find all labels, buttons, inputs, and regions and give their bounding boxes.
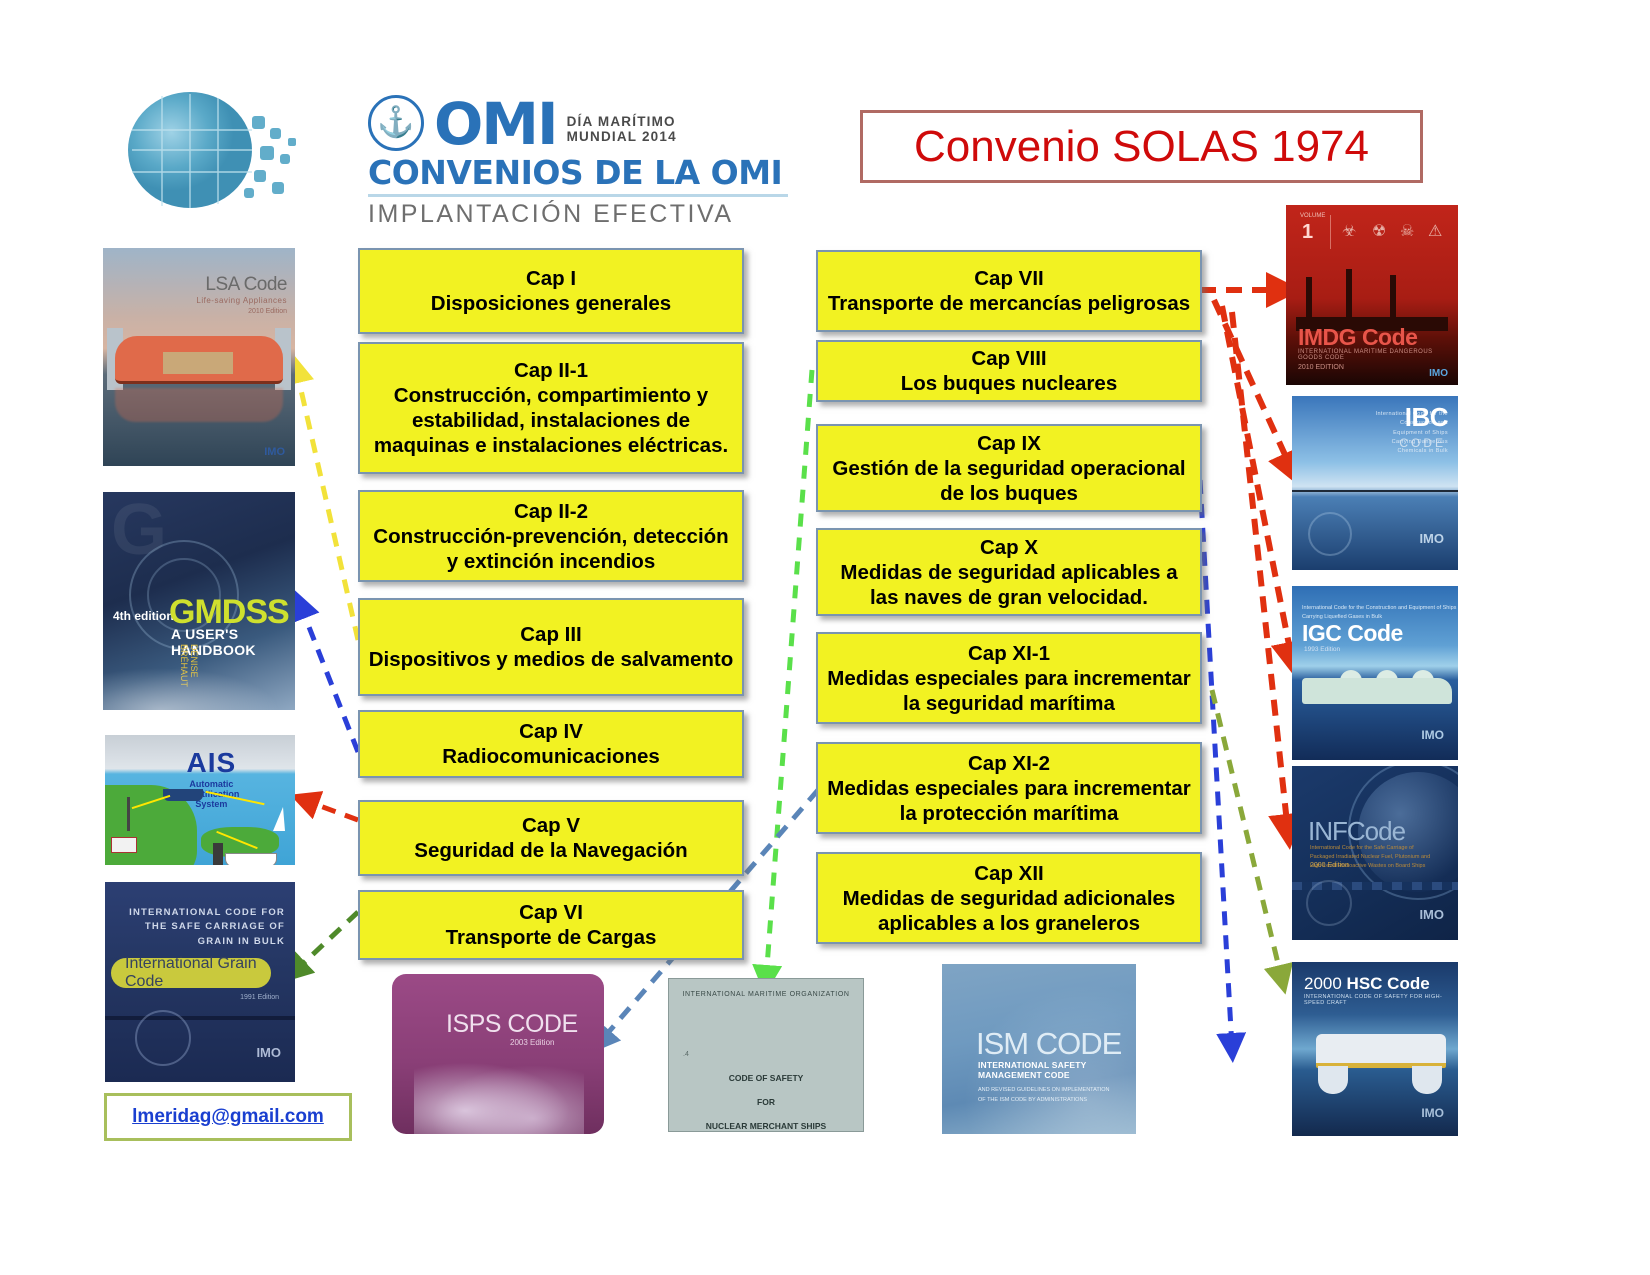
high-speed-craft-illustration [1316, 1034, 1446, 1068]
chapter-box-cap-viii[interactable]: Cap VIII Los buques nucleares [816, 340, 1202, 402]
omi-implementation-line: IMPLANTACIÓN EFECTIVA [368, 200, 788, 229]
inf-title-light: Code [1347, 816, 1405, 846]
nuclear-organization: INTERNATIONAL MARITIME ORGANIZATION [669, 991, 863, 998]
chapter-box-cap-vi[interactable]: Cap VI Transporte de Cargas [358, 890, 744, 960]
isps-edition: 2003 Edition [510, 1038, 554, 1047]
un-wreath-icon: ⚓ [368, 95, 424, 151]
ibc-title: IBC [1405, 402, 1448, 433]
lsa-publisher: IMO [264, 446, 285, 458]
chapter-box-cap-x[interactable]: Cap X Medidas de seguridad aplicables a … [816, 528, 1202, 616]
arrow-cap10-to-hsc [1212, 690, 1282, 980]
arrow-cap7-to-ibc [1214, 300, 1292, 470]
book-cover-inf-code: INFCode International Code for the Safe … [1292, 766, 1458, 940]
chapter-desc: Los buques nucleares [901, 371, 1117, 396]
hsc-subtitle: INTERNATIONAL CODE OF SAFETY FOR HIGH-SP… [1304, 994, 1444, 1006]
omi-conventions-line: CONVENIOS DE LA OMI [368, 153, 788, 197]
email-box: lmeridag@gmail.com [104, 1093, 352, 1141]
book-cover-isps-code: ISPS CODE 2003 Edition [392, 974, 604, 1134]
nuclear-line2: FOR [669, 1097, 863, 1107]
book-cover-gmdss: G 4th edition GMDSS A USER'S HANDBOOK DE… [103, 492, 295, 710]
igc-edition: 1993 Edition [1304, 646, 1340, 653]
grain-edition: 1991 Edition [240, 994, 279, 1001]
chapter-box-cap-ii-2[interactable]: Cap II-2 Construcción-prevención, detecc… [358, 490, 744, 582]
gmdss-edition: 4th edition [113, 609, 174, 623]
book-cover-hsc-code: 2000 HSC Code INTERNATIONAL CODE OF SAFE… [1292, 962, 1458, 1136]
chapter-desc: Medidas de seguridad adicionales aplicab… [826, 886, 1192, 936]
imdg-subtitle: INTERNATIONAL MARITIME DANGEROUS GOODS C… [1298, 349, 1458, 361]
imo-globe-puzzle-logo [112, 88, 322, 213]
chapter-box-cap-ix[interactable]: Cap IX Gestión de la seguridad operacion… [816, 424, 1202, 512]
chapter-cap-label: Cap V [522, 813, 580, 838]
book-cover-ibc-code: International Code for the Construction … [1292, 396, 1458, 570]
toxic-hazard-icon: ☠ [1400, 221, 1414, 241]
ism-title-light: CODE [1028, 1026, 1121, 1061]
arrow-cap5-to-ais [304, 800, 358, 820]
nuclear-line1: CODE OF SAFETY [669, 1073, 863, 1083]
chapter-cap-label: Cap IX [977, 431, 1041, 456]
lsa-title-bold: LSA [205, 274, 238, 295]
omi-day-line2: MUNDIAL 2014 [567, 129, 677, 145]
chapter-box-cap-xi-1[interactable]: Cap XI-1 Medidas especiales para increme… [816, 632, 1202, 724]
book-cover-grain-code: INTERNATIONAL CODE FOR THE SAFE CARRIAGE… [105, 882, 295, 1082]
omi-acronym: OMI [434, 98, 557, 151]
nuclear-line3: NUCLEAR MERCHANT SHIPS [669, 1121, 863, 1131]
page-title-box: Convenio SOLAS 1974 [860, 110, 1423, 183]
isps-title-bold: ISPS [446, 1010, 501, 1038]
ibc-publisher: IMO [1419, 531, 1444, 546]
chapter-desc: Construcción, compartimiento y estabilid… [368, 383, 734, 458]
book-cover-lsa-code: LSA Code Life-saving Appliances 2010 Edi… [103, 248, 295, 466]
chapter-cap-label: Cap VIII [971, 346, 1046, 371]
ism-subtitle: INTERNATIONAL SAFETY MANAGEMENT CODE [978, 1060, 1136, 1080]
imdg-title: IMDG Code [1298, 324, 1417, 351]
book-cover-imdg-code: VOLUME 1 ☣ ☢ ☠ ⚠ IMDG Code INTERNATIONAL… [1286, 205, 1458, 385]
grain-publisher: IMO [256, 1045, 281, 1060]
chapter-desc: Transporte de Cargas [446, 925, 657, 950]
page-title: Convenio SOLAS 1974 [914, 122, 1369, 172]
chapter-cap-label: Cap IV [519, 719, 583, 744]
hsc-publisher: IMO [1421, 1106, 1444, 1120]
book-cover-nuclear-merchant-ships: INTERNATIONAL MARITIME ORGANIZATION .4 C… [668, 978, 864, 1132]
hsc-title: HSC Code [1347, 974, 1430, 993]
lng-tanker-illustration [1302, 678, 1452, 704]
ibc-title2: CODE [1399, 436, 1446, 450]
chapter-cap-label: Cap XI-2 [968, 751, 1050, 776]
inf-title-bold: INF [1308, 816, 1347, 846]
imdg-edition: 2010 EDITION [1298, 364, 1344, 371]
chapter-desc: Medidas especiales para incrementar la p… [826, 776, 1192, 826]
grain-header: INTERNATIONAL CODE FOR THE SAFE CARRIAGE… [115, 906, 285, 949]
chapter-desc: Transporte de mercancías peligrosas [828, 291, 1190, 316]
lsa-title-light: Code [239, 274, 287, 295]
email-link[interactable]: lmeridag@gmail.com [132, 1106, 324, 1128]
chapter-desc: Medidas de seguridad aplicables a las na… [826, 560, 1192, 610]
chapter-desc: Medidas especiales para incrementar la s… [826, 666, 1192, 716]
arrow-cap4-to-gmdss [300, 604, 358, 752]
chapter-box-cap-vii[interactable]: Cap VII Transporte de mercancías peligro… [816, 250, 1202, 332]
arrow-cap7-to-inf [1232, 312, 1288, 832]
arrow-cap9-to-ism [1200, 480, 1232, 1048]
omi-logo: ⚓ OMI DÍA MARÍTIMO MUNDIAL 2014 CONVENIO… [368, 95, 788, 205]
chapter-box-cap-v[interactable]: Cap V Seguridad de la Navegación [358, 800, 744, 876]
chapter-box-cap-i[interactable]: Cap I Disposiciones generales [358, 248, 744, 334]
arrow-cap8-to-nuclear [766, 370, 812, 980]
chapter-box-cap-ii-1[interactable]: Cap II-1 Construcción, compartimiento y … [358, 342, 744, 474]
arrow-cap7-to-igc [1222, 306, 1292, 660]
biohazard-icon: ⚠ [1428, 221, 1442, 241]
chapter-box-cap-xi-2[interactable]: Cap XI-2 Medidas especiales para increme… [816, 742, 1202, 834]
igc-publisher: IMO [1421, 728, 1444, 742]
ism-subtitle2: AND REVISED GUIDELINES ON IMPLEMENTATION… [978, 1086, 1118, 1106]
chapter-cap-label: Cap X [980, 535, 1038, 560]
lsa-edition: 2010 Edition [196, 308, 287, 315]
slide-canvas: ⚓ OMI DÍA MARÍTIMO MUNDIAL 2014 CONVENIO… [0, 0, 1650, 1275]
chapter-cap-label: Cap III [520, 622, 582, 647]
lsa-subtitle: Life-saving Appliances [196, 296, 287, 305]
chapter-desc: Disposiciones generales [431, 291, 671, 316]
grain-band-title: International Grain Code [111, 958, 271, 988]
chapter-desc: Radiocomunicaciones [442, 744, 660, 769]
ism-title-bold: ISM [976, 1026, 1028, 1061]
explosive-hazard-icon: ☣ [1342, 221, 1356, 241]
igc-header: International Code for the Construction … [1302, 604, 1458, 622]
chapter-desc: Dispositivos y medios de salvamento [369, 647, 734, 672]
imdg-volume-number: 1 [1302, 221, 1313, 244]
chapter-desc: Gestión de la seguridad operacional de l… [826, 456, 1192, 506]
lifeboat-illustration [115, 336, 283, 384]
chapter-box-cap-xii[interactable]: Cap XII Medidas de seguridad adicionales… [816, 852, 1202, 944]
chapter-box-cap-iv[interactable]: Cap IV Radiocomunicaciones [358, 710, 744, 778]
imdg-publisher: IMO [1429, 368, 1448, 379]
ais-title: AIS [170, 747, 254, 779]
chapter-cap-label: Cap VII [974, 266, 1044, 291]
chapter-desc: Construcción-prevención, detección y ext… [368, 524, 734, 574]
radioactive-hazard-icon: ☢ [1372, 221, 1386, 241]
chapter-cap-label: Cap II-2 [514, 499, 588, 524]
book-cover-igc-code: International Code for the Construction … [1292, 586, 1458, 760]
imdg-volume-label: VOLUME [1300, 213, 1325, 219]
arrow-cap6-to-grain [294, 912, 358, 972]
chapter-cap-label: Cap VI [519, 900, 583, 925]
igc-title: IGC Code [1302, 620, 1403, 647]
chapter-cap-label: Cap I [526, 266, 576, 291]
chapter-cap-label: Cap XII [974, 861, 1044, 886]
chapter-box-cap-iii[interactable]: Cap III Dispositivos y medios de salvame… [358, 598, 744, 696]
inf-publisher: IMO [1419, 907, 1444, 922]
book-cover-ism-code: ISM CODE INTERNATIONAL SAFETY MANAGEMENT… [942, 964, 1136, 1134]
chapter-desc: Seguridad de la Navegación [414, 838, 687, 863]
isps-title-light: CODE [501, 1010, 578, 1038]
chapter-cap-label: Cap XI-1 [968, 641, 1050, 666]
chapter-cap-label: Cap II-1 [514, 358, 588, 383]
hsc-year: 2000 [1304, 974, 1347, 993]
omi-day-line1: DÍA MARÍTIMO [567, 114, 677, 130]
inf-edition: 2000 Edition [1310, 862, 1349, 869]
book-cover-ais: AIS Automatic Identification System [105, 735, 295, 865]
arrow-cap3-to-lsa [296, 368, 358, 640]
